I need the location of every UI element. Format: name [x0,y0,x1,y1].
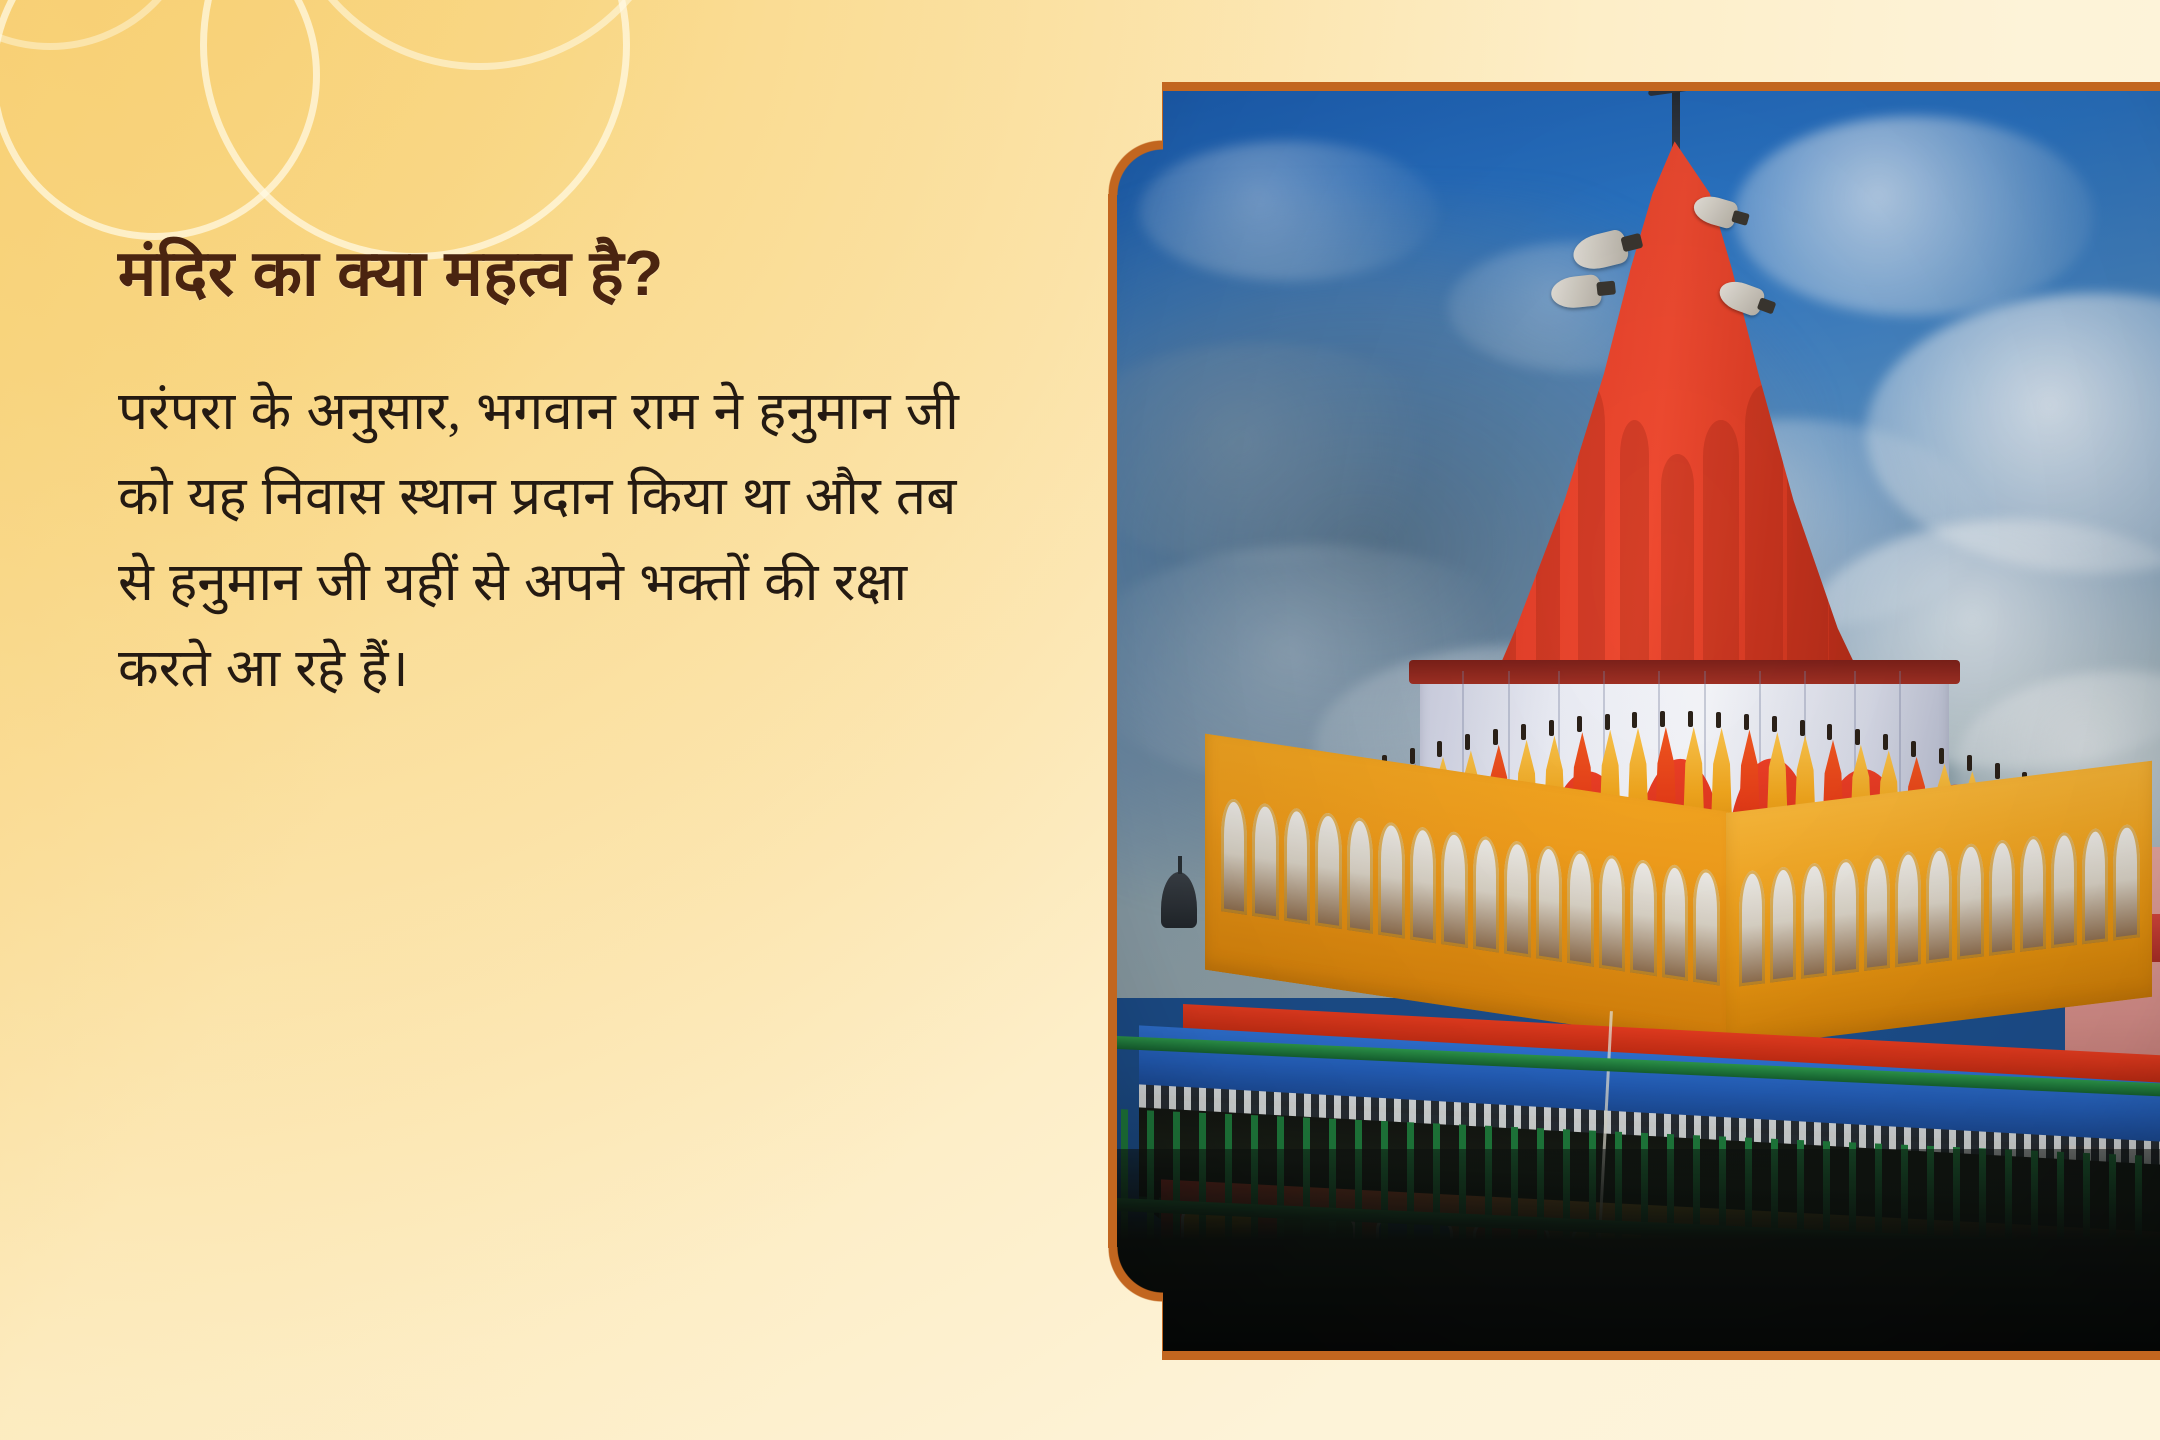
red-shikhara-spire [1459,141,1900,721]
colonnade-arch [1989,839,2015,955]
colonnade-arch [1694,868,1721,985]
colonnade-arch [1379,821,1406,938]
temple-scene [1117,91,2160,1351]
spire-finial-icon [1410,748,1415,764]
colonnade-arch [1739,869,1765,985]
colonnade-arch [1927,846,1953,962]
colonnade-arch [1802,862,1828,978]
spire-finial-icon [1827,724,1832,740]
spire-finial-icon [1772,716,1777,732]
spire-finial-icon [1883,734,1888,750]
spire-finial-icon [1967,755,1972,771]
colonnade-arch [1316,811,1343,928]
spire-finial-icon [1688,711,1693,727]
colonnade-arch [1599,854,1626,971]
spire-finial-icon [1493,729,1498,745]
spire-finial-icon [1660,711,1665,727]
cloud [1139,141,1439,281]
colonnade-arch [1662,863,1689,980]
colonnade-arch [1770,865,1796,981]
spire-finial-icon [1911,741,1916,757]
shikhara-body [1459,141,1900,721]
arched-colonnade-left [1221,797,1720,985]
colonnade-arch [1958,842,1984,958]
colonnade-arch [1221,797,1248,914]
yellow-tiered-parapet [1205,746,2153,1048]
colonnade-arch [2051,831,2077,947]
arched-colonnade-right [1739,823,2140,985]
spire-finial-icon [1437,741,1442,757]
spire-finial-icon [1577,716,1582,732]
text-column: मंदिर का क्या महत्व है? परंपरा के अनुसार… [118,236,1018,713]
spire-finial-icon [1521,724,1526,740]
colonnade-arch [1568,849,1595,966]
page-title: मंदिर का क्या महत्व है? [118,236,1018,312]
colonnade-arch [1631,858,1658,975]
colonnade-arch [1833,858,1859,974]
colonnade-arch [1505,839,1532,956]
colonnade-arch [1347,816,1374,933]
body-paragraph: परंपरा के अनुसार, भगवान राम ने हनुमान जी… [118,370,998,713]
loudspeaker-icon [1550,274,1603,310]
colonnade-arch [1864,854,1890,970]
colonnade-arch [1442,830,1469,947]
colonnade-arch [1284,807,1311,924]
spire-finial-icon [1744,714,1749,730]
colonnade-arch [1473,835,1500,952]
loudspeaker-icon [1570,228,1631,274]
spire-finial-icon [1939,748,1944,764]
colonnade-arch [1253,802,1280,919]
colonnade-arch [2083,827,2109,943]
colonnade-arch [2020,835,2046,951]
spire-finial-icon [1465,734,1470,750]
colonnade-arch [1536,844,1563,961]
spire-finial-icon [1995,763,2000,779]
spire-finial-icon [1716,712,1721,728]
spire-finial-icon [1800,720,1805,736]
spire-finial-icon [1632,712,1637,728]
spire-finial-icon [1855,729,1860,745]
ground-foreground [1117,1149,2160,1351]
infographic-card: मंदिर का क्या महत्व है? परंपरा के अनुसार… [0,0,2160,1440]
colonnade-arch [2114,823,2140,939]
spire-finial-icon [1549,720,1554,736]
colonnade-arch [1895,850,1921,966]
photo-frame [1108,82,2160,1360]
colonnade-arch [1410,825,1437,942]
spire-finial-icon [1605,714,1610,730]
temple-photo [1117,91,2160,1351]
